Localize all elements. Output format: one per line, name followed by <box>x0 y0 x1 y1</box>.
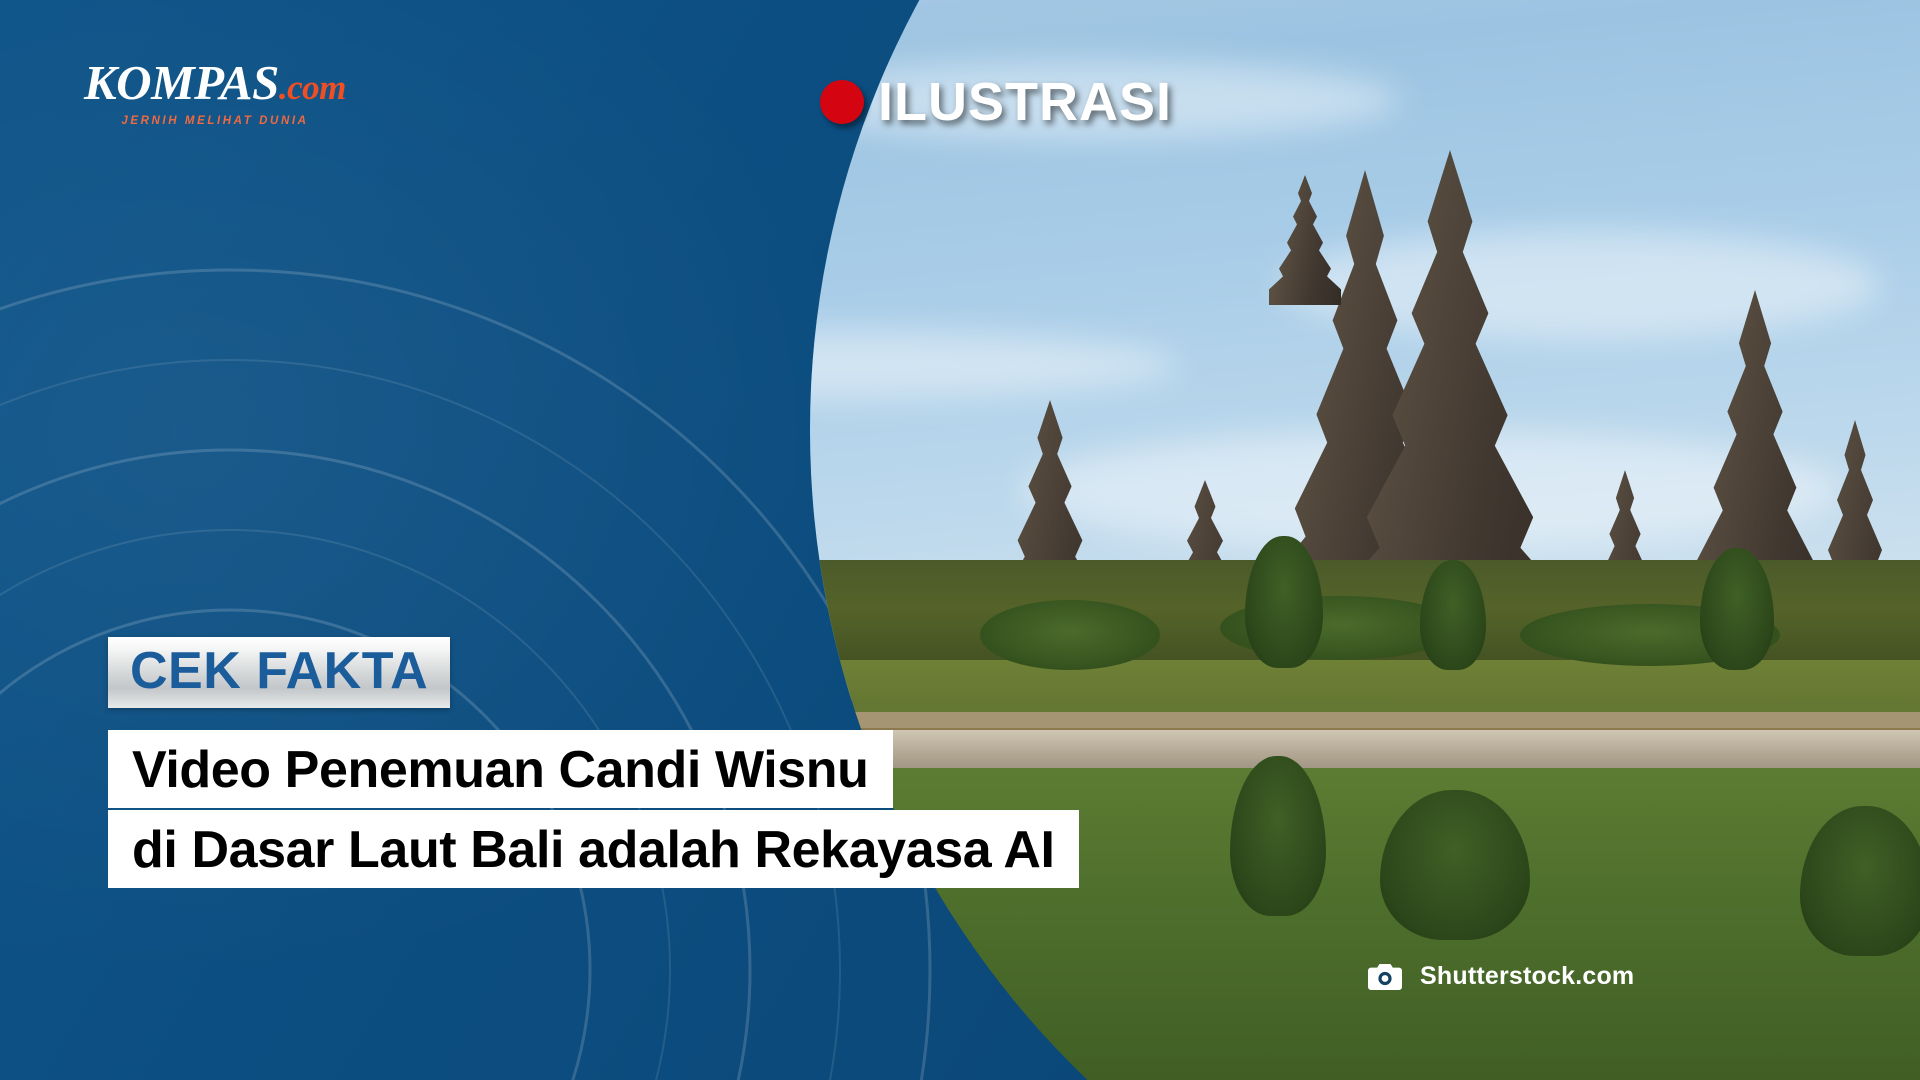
bush <box>980 600 1160 670</box>
temple-photo <box>810 0 1920 1080</box>
headline-line-2: di Dasar Laut Bali adalah Rekayasa AI <box>108 810 1079 888</box>
category-label: CEK FAKTA <box>130 645 428 697</box>
camera-icon <box>1368 964 1402 990</box>
cek-fakta-card: KOMPAS.com JERNIH MELIHAT DUNIA ILUSTRAS… <box>0 0 1920 1080</box>
ilustrasi-badge: ILUSTRASI <box>820 75 1172 129</box>
headline-line-1: Video Penemuan Candi Wisnu <box>108 730 893 808</box>
headline: Video Penemuan Candi Wisnu di Dasar Laut… <box>108 730 1079 888</box>
terrain-path <box>810 712 1920 728</box>
photo-credit: Shutterstock.com <box>1368 962 1634 991</box>
logo-text: KOMPAS <box>84 55 279 110</box>
logo-wordmark: KOMPAS.com <box>84 58 346 107</box>
credit-source: Shutterstock.com <box>1420 962 1634 991</box>
category-tag: CEK FAKTA <box>108 637 450 708</box>
kompas-logo[interactable]: KOMPAS.com JERNIH MELIHAT DUNIA <box>84 58 346 127</box>
logo-tagline: JERNIH MELIHAT DUNIA <box>84 115 346 127</box>
red-dot-icon <box>820 80 864 124</box>
logo-dotcom: .com <box>279 68 346 107</box>
ilustrasi-label: ILUSTRASI <box>878 75 1172 129</box>
photo-circle-mask <box>810 0 1920 1080</box>
